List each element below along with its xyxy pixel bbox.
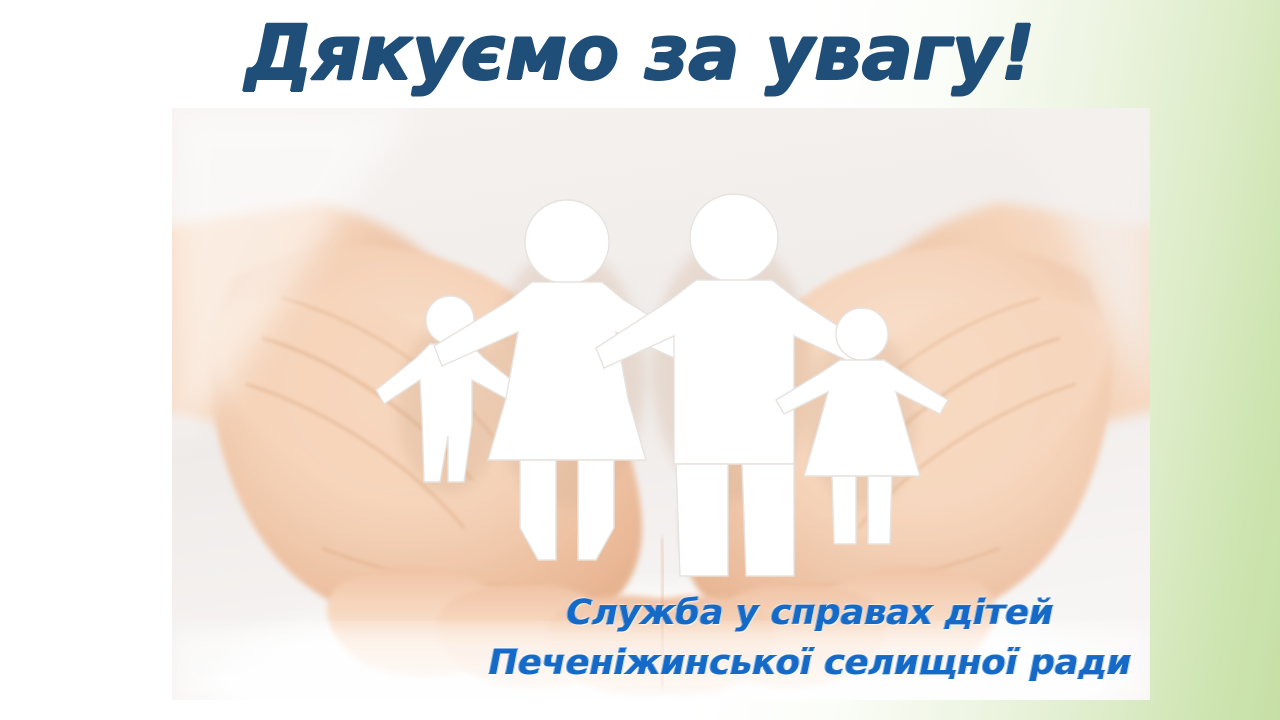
slide-title: Дякуємо за увагу!: [0, 14, 1280, 92]
presentation-slide: Дякуємо за увагу! Служба у справах дітей…: [0, 0, 1280, 720]
caption-line-2: Печеніжинської селищної ради: [430, 638, 1190, 688]
slide-caption: Служба у справах дітей Печеніжинської се…: [430, 588, 1190, 688]
caption-line-1: Служба у справах дітей: [430, 588, 1190, 638]
